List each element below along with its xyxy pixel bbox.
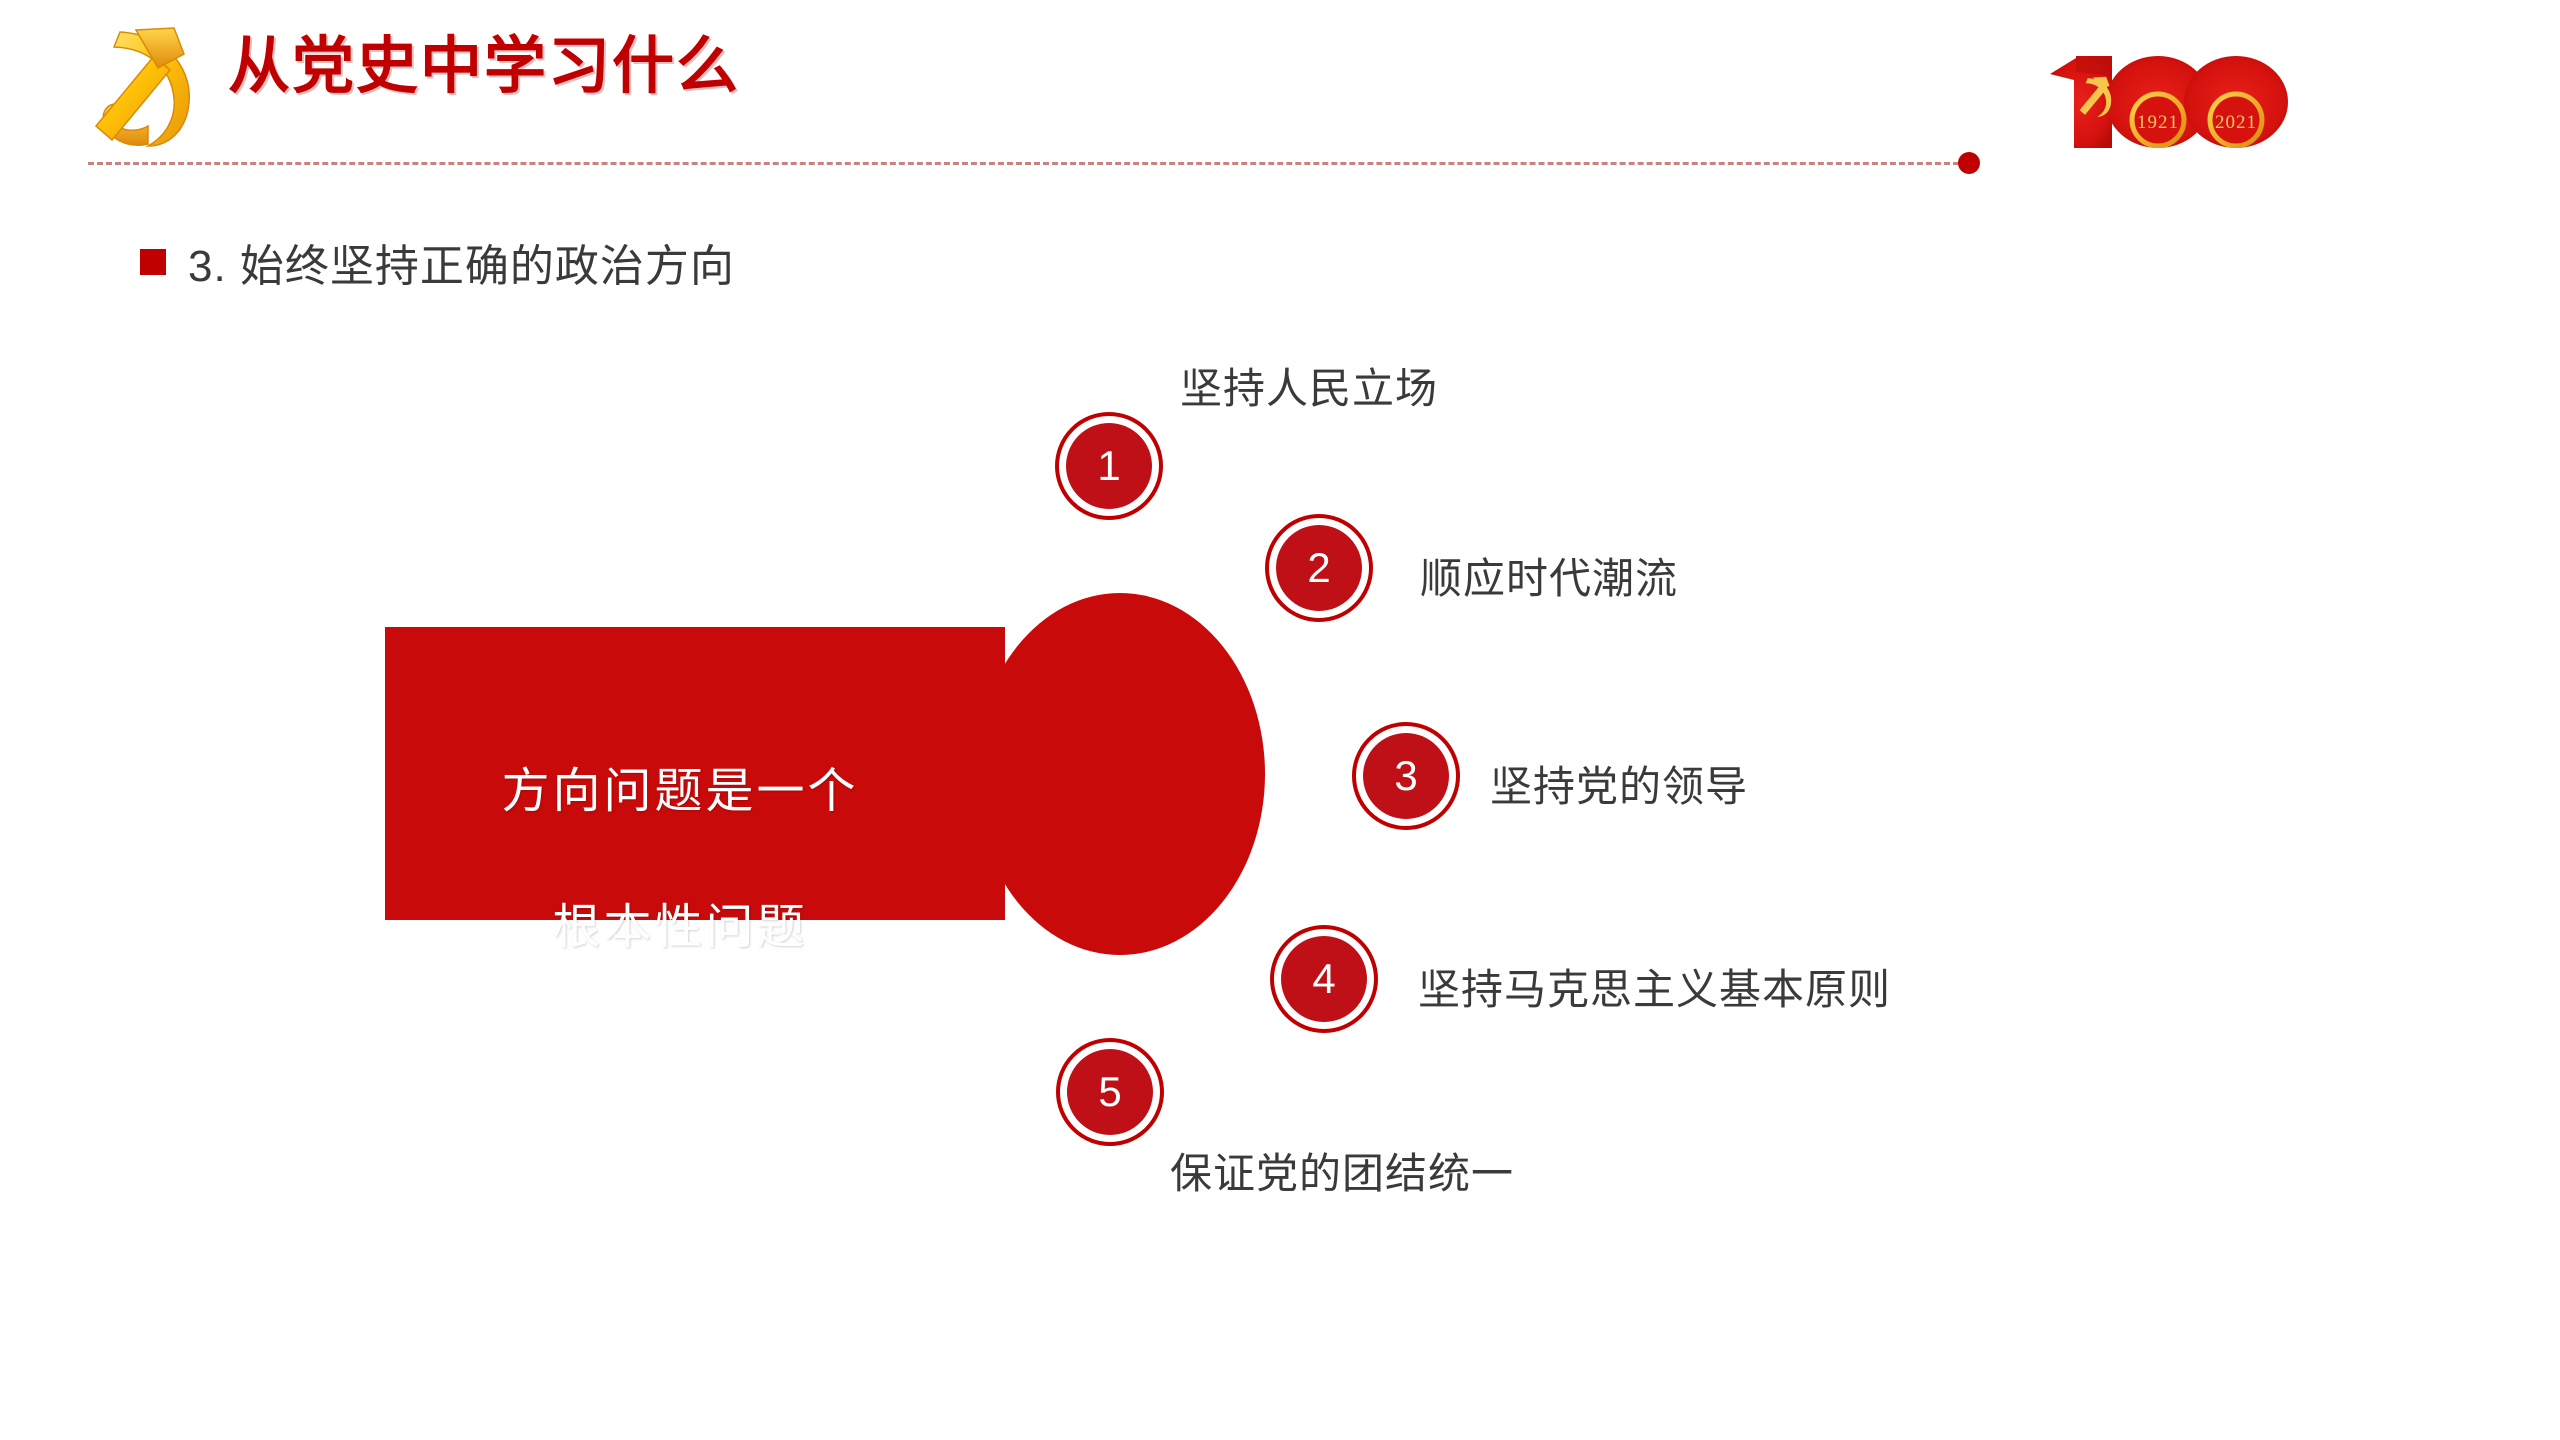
core-concept-line-2: 根本性问题 — [400, 894, 960, 962]
node-number-5: 5 — [1067, 1049, 1153, 1135]
node-number-2: 2 — [1276, 525, 1362, 611]
diagram-node-label-1: 坚持人民立场 — [1180, 355, 1438, 416]
diagram-node-2[interactable]: 2 — [1265, 514, 1373, 622]
node-number-1: 1 — [1066, 423, 1152, 509]
diagram-node-label-5: 保证党的团结统一 — [1170, 1140, 1514, 1201]
diagram-node-4[interactable]: 4 — [1270, 925, 1378, 1033]
diagram-node-1[interactable]: 1 — [1055, 412, 1163, 520]
core-concept-label: 方向问题是一个 根本性问题 — [400, 690, 960, 1031]
diagram-node-label-3: 坚持党的领导 — [1490, 753, 1748, 814]
node-number-3: 3 — [1363, 733, 1449, 819]
diagram-node-5[interactable]: 5 — [1056, 1038, 1164, 1146]
diagram-area: 方向问题是一个 根本性问题 1 坚持人民立场 2 顺应时代潮流 3 坚持党的领导… — [0, 0, 2560, 1440]
core-concept-line-1: 方向问题是一个 — [400, 758, 960, 826]
diagram-node-label-2: 顺应时代潮流 — [1420, 545, 1678, 606]
slide-canvas: 从党史中学习什么 — [0, 0, 2560, 1440]
diagram-node-3[interactable]: 3 — [1352, 722, 1460, 830]
diagram-node-label-4: 坚持马克思主义基本原则 — [1418, 956, 1891, 1017]
node-number-4: 4 — [1281, 936, 1367, 1022]
